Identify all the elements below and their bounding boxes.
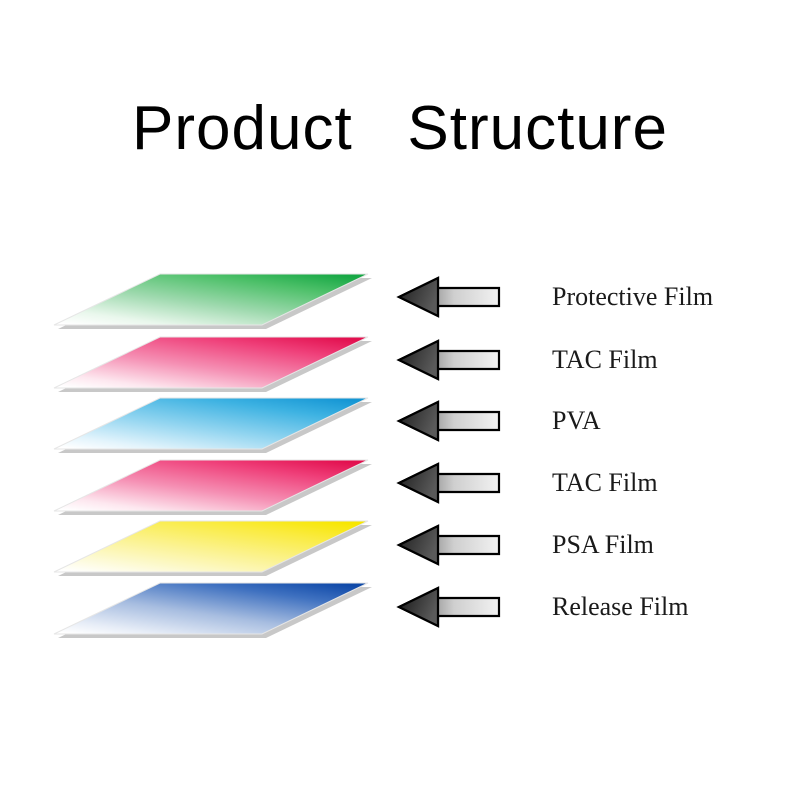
layer-row-2: TAC Film (396, 338, 658, 382)
layer-label: PSA Film (552, 532, 654, 558)
layer-row-1: Protective Film (396, 275, 713, 319)
layer-plate-5 (54, 521, 372, 576)
left-arrow-icon (396, 523, 502, 567)
layer-plate-4 (54, 460, 372, 515)
product-structure-diagram: Product Structure (0, 0, 800, 800)
page-title: Product Structure (0, 98, 800, 160)
layer-label: Protective Film (552, 284, 713, 310)
left-arrow-icon (396, 399, 502, 443)
layer-row-5: PSA Film (396, 523, 654, 567)
layer-plate-6 (54, 583, 372, 638)
layer-label: TAC Film (552, 470, 658, 496)
layer-label: Release Film (552, 594, 688, 620)
layer-row-3: PVA (396, 399, 601, 443)
layer-plate-3 (54, 398, 372, 453)
layer-plate-2 (54, 337, 372, 392)
left-arrow-icon (396, 461, 502, 505)
layer-plate-1 (54, 274, 372, 329)
layer-row-6: Release Film (396, 585, 688, 629)
left-arrow-icon (396, 275, 502, 319)
layer-label: TAC Film (552, 347, 658, 373)
layer-row-4: TAC Film (396, 461, 658, 505)
layer-label: PVA (552, 408, 601, 434)
left-arrow-icon (396, 338, 502, 382)
left-arrow-icon (396, 585, 502, 629)
